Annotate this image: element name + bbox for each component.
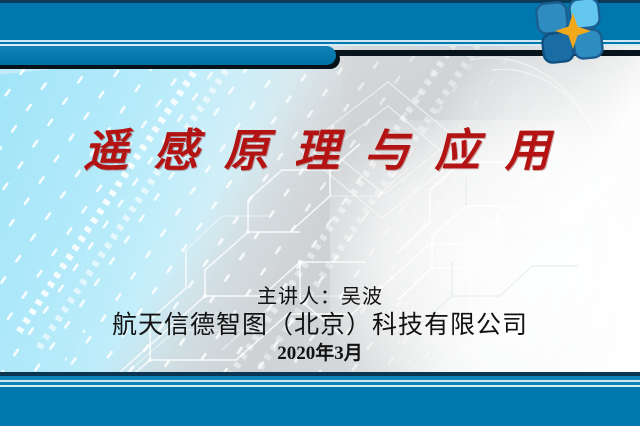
- presentation-title-slide: 遥 感 原 理 与 应 用 主讲人：吴波 航天信德智图（北京）科技有限公司 20…: [0, 0, 640, 426]
- date-line: 2020年3月: [0, 341, 640, 366]
- presenter-line: 主讲人：吴波: [0, 284, 640, 310]
- header-accent-tab: [0, 46, 336, 65]
- page-title: 遥 感 原 理 与 应 用: [0, 114, 640, 179]
- footer-blue-band: [0, 387, 640, 426]
- subtitle-block: 主讲人：吴波 航天信德智图（北京）科技有限公司 2020年3月: [0, 284, 640, 366]
- pinwheel-logo: [533, 0, 605, 65]
- company-line: 航天信德智图（北京）科技有限公司: [0, 310, 640, 341]
